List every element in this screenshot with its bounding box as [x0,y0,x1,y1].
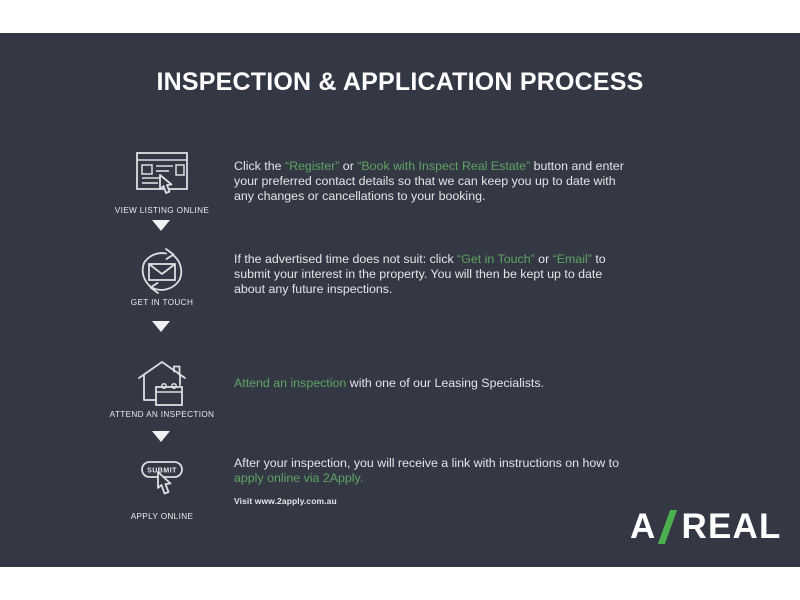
listing-window-cursor-icon [98,145,226,203]
submit-button-cursor-icon: SUBMIT [98,453,226,511]
text-part-accent: Attend an inspection [234,376,346,390]
step-text-apply-online: After your inspection, you will receive … [234,456,634,486]
slide-canvas: INSPECTION & APPLICATION PROCESS VIEW LI… [0,33,800,567]
text-part: If the advertised time does not suit: cl… [234,252,457,266]
step-text-get-in-touch: If the advertised time does not suit: cl… [234,252,634,296]
logo-slash-icon [661,510,678,544]
text-part-accent: “Email” [553,252,592,266]
text-part: Click the [234,159,285,173]
text-part-accent: “Register” [285,159,339,173]
text-part-accent: “Get in Touch” [457,252,535,266]
brand-logo: A REAL [630,507,782,547]
step-text-attend-an-inspection: Attend an inspection with one of our Lea… [234,376,634,391]
arrow-down-icon-2 [152,321,170,332]
text-part: After your inspection, you will receive … [234,456,619,470]
step-label-get-in-touch: GET IN TOUCH [78,298,246,307]
text-part-accent: “Book with Inspect Real Estate” [357,159,530,173]
submit-button-icon-label: SUBMIT [147,467,177,474]
text-part: or [339,159,357,173]
arrow-down-icon-1 [152,220,170,231]
step-label-attend-an-inspection: ATTEND AN INSPECTION [78,410,246,419]
step-footnote-apply-online: Visit www.2apply.com.au [234,496,337,506]
house-calendar-icon [98,353,226,411]
logo-text-left: A [630,507,656,547]
step-label-apply-online: APPLY ONLINE [78,512,246,521]
text-part-accent: apply online via 2Apply. [234,471,363,485]
envelope-refresh-icon [98,242,226,300]
step-label-view-listing-online: VIEW LISTING ONLINE [78,206,246,215]
step-text-view-listing-online: Click the “Register” or “Book with Inspe… [234,159,634,203]
logo-text-right: REAL [681,507,781,547]
text-part: or [535,252,553,266]
arrow-down-icon-3 [152,431,170,442]
page-title: INSPECTION & APPLICATION PROCESS [0,68,800,97]
text-part: with one of our Leasing Specialists. [346,376,544,390]
